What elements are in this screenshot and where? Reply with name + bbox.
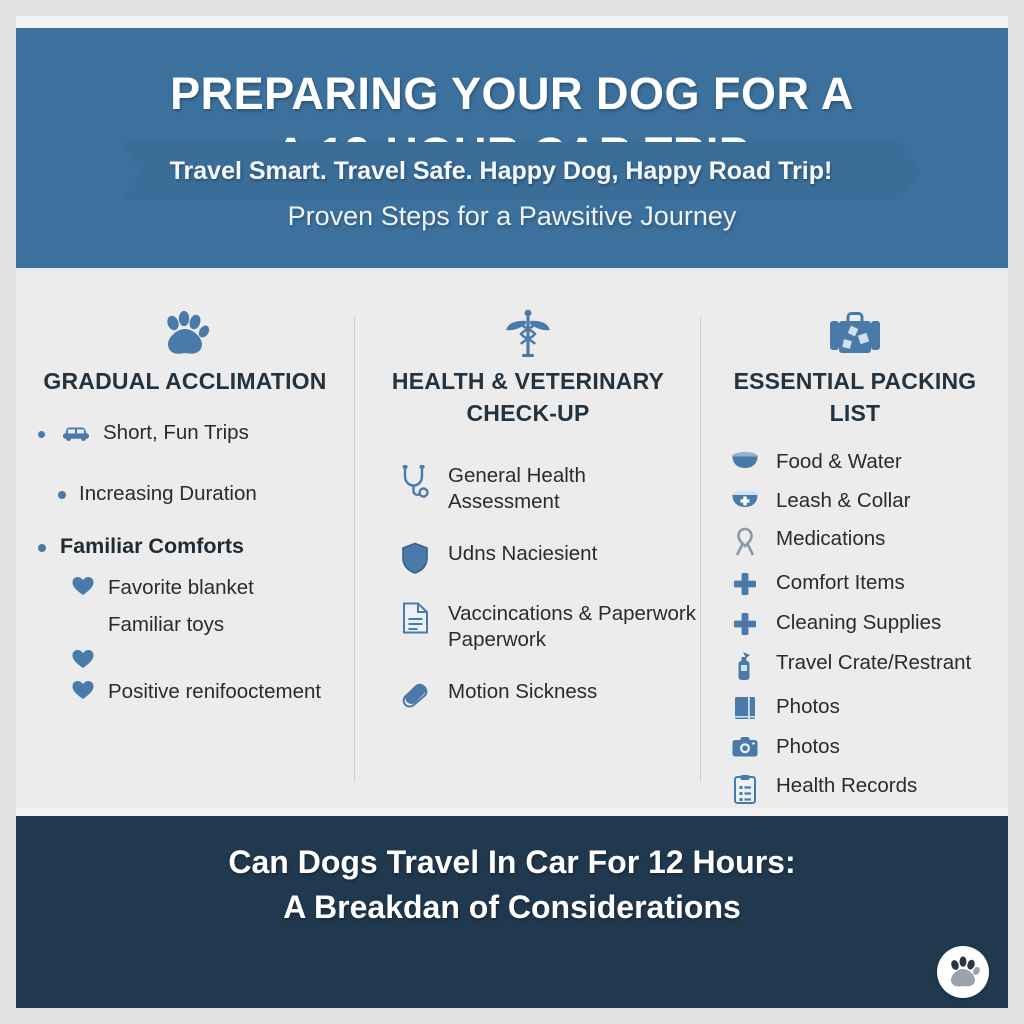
plus-icon xyxy=(726,571,764,597)
column-heading: HEALTH & VETERINARY CHECK-UP xyxy=(356,366,700,429)
dog-bowl-icon xyxy=(726,450,764,470)
bullet-icon xyxy=(38,544,46,552)
suitcase-icon xyxy=(702,306,1008,362)
list-item: Short, Fun Trips xyxy=(16,420,354,445)
document-icon xyxy=(396,602,434,634)
caduceus-icon xyxy=(356,306,700,362)
list-item-label: General Health Assessment xyxy=(448,463,700,514)
stethoscope-icon xyxy=(396,464,434,498)
heart-icon xyxy=(68,649,98,669)
column-gradual-acclimation: GRADUAL ACCLIMATION Sho xyxy=(16,268,354,808)
column-heading: ESSENTIAL PACKING LIST xyxy=(702,366,1008,429)
column-3-items: Food & Water Leash & Collar xyxy=(702,449,1008,803)
list-item: Photos xyxy=(726,694,1008,721)
content-area: GRADUAL ACCLIMATION Sho xyxy=(16,268,1008,808)
list-item: Photos xyxy=(726,734,1008,759)
list-item-label: Food & Water xyxy=(776,449,1008,474)
spray-bottle-icon xyxy=(726,651,764,681)
car-icon xyxy=(59,422,93,442)
list-item-label: Positive renifooctement xyxy=(108,679,354,704)
list-item: Udns Naciesient xyxy=(396,541,700,574)
list-item: Favorite blanket xyxy=(16,575,354,600)
ribbon-icon xyxy=(726,527,764,557)
pill-icon xyxy=(396,680,434,710)
list-item: Food & Water xyxy=(726,449,1008,474)
list-item: General Health Assessment xyxy=(396,463,700,514)
camera-icon xyxy=(726,735,764,759)
list-item-label: Comfort Items xyxy=(776,570,1008,595)
dog-bowl-plus-icon xyxy=(726,489,764,509)
list-item: Positive renifooctement xyxy=(16,679,354,704)
list-item: Increasing Duration xyxy=(16,481,354,506)
footer-band: Can Dogs Travel In Car For 12 Hours: A B… xyxy=(16,816,1008,1008)
column-1-items: Short, Fun Trips Increasing Duration Fam… xyxy=(16,420,354,705)
paw-print-icon xyxy=(16,306,354,362)
list-item-label: Medications xyxy=(776,526,1008,551)
list-item-label: Increasing Duration xyxy=(79,481,354,506)
list-item: Familiar Comforts xyxy=(16,533,354,560)
list-item-label: Photos xyxy=(776,694,1008,719)
title-line-1: PREPARING YOUR DOG FOR A xyxy=(170,64,854,123)
list-item-label: Health Records xyxy=(776,773,1008,798)
plus-icon xyxy=(726,611,764,637)
list-item: Motion Sickness xyxy=(396,679,700,710)
column-2-items: General Health Assessment Udns Naciesien… xyxy=(356,463,700,710)
list-item: Familiar toys xyxy=(16,612,354,637)
column-heading: GRADUAL ACCLIMATION xyxy=(16,366,354,398)
list-item: Leash & Collar xyxy=(726,488,1008,513)
column-divider-2 xyxy=(700,316,701,782)
list-item-label: Favorite blanket xyxy=(108,575,354,600)
heart-icon xyxy=(68,576,98,596)
book-icon xyxy=(726,695,764,721)
footer-title-line-1: Can Dogs Travel In Car For 12 Hours: xyxy=(16,840,1008,885)
infographic-poster: PREPARING YOUR DOG FOR A A 12-HOUR CAR T… xyxy=(16,16,1008,1008)
list-item-label: Photos xyxy=(776,734,1008,759)
footer-title-line-2: A Breakdan of Considerations xyxy=(16,885,1008,930)
clipboard-icon xyxy=(726,774,764,804)
shield-icon xyxy=(396,542,434,574)
list-item-label: Familiar toys xyxy=(108,612,354,637)
list-item-label: Motion Sickness xyxy=(448,679,700,704)
list-item: Health Records xyxy=(726,773,1008,804)
column-packing-list: ESSENTIAL PACKING LIST Food & Water xyxy=(702,268,1008,808)
tagline-text: Travel Smart. Travel Safe. Happy Dog, Ha… xyxy=(170,157,873,186)
list-item-label: Travel Crate/Restrant xyxy=(776,650,1008,675)
list-item: Medications xyxy=(726,526,1008,557)
bullet-icon xyxy=(38,431,45,438)
list-item: Travel Crate/Restrant xyxy=(726,650,1008,681)
list-item xyxy=(16,648,354,669)
paw-print-icon xyxy=(937,946,989,998)
list-item: Vaccincations & Paperwork Paperwork xyxy=(396,601,700,652)
page-subtitle: Proven Steps for a Pawsitive Journey xyxy=(288,201,737,232)
column-health-veterinary: HEALTH & VETERINARY CHECK-UP General Hea… xyxy=(356,268,700,808)
list-item-label: Familiar Comforts xyxy=(60,533,354,560)
list-item-label: Vaccincations & Paperwork Paperwork xyxy=(448,601,700,652)
footer-title: Can Dogs Travel In Car For 12 Hours: A B… xyxy=(16,816,1008,931)
heart-icon xyxy=(68,680,98,700)
list-item-label: Leash & Collar xyxy=(776,488,1008,513)
tagline-ribbon: Travel Smart. Travel Safe. Happy Dog, Ha… xyxy=(121,142,921,200)
list-item-label: Cleaning Supplies xyxy=(776,610,1008,635)
list-item-label: Udns Naciesient xyxy=(448,541,700,566)
column-divider-1 xyxy=(354,316,355,782)
list-item: Comfort Items xyxy=(726,570,1008,597)
bullet-icon xyxy=(58,491,66,499)
list-item-label: Short, Fun Trips xyxy=(103,420,354,445)
list-item: Cleaning Supplies xyxy=(726,610,1008,637)
